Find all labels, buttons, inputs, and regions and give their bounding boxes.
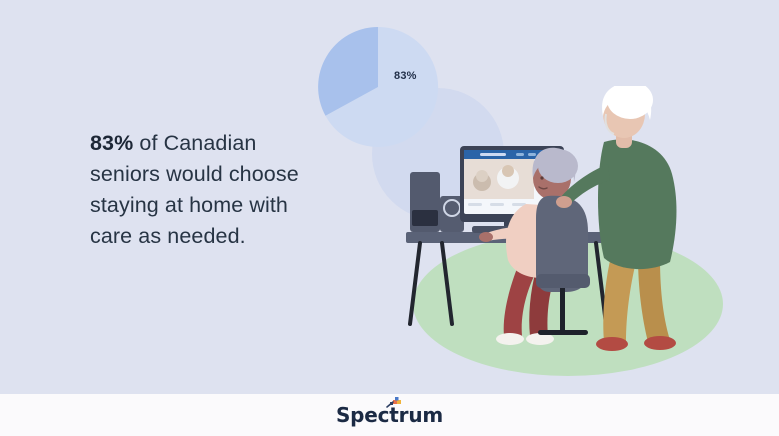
computer-tower [410,172,440,232]
screen-card-1 [468,203,482,206]
tower-panel [412,210,438,226]
spectrum-starburst-icon [384,396,406,410]
illustration-svg [398,86,738,386]
screen-photo-head-1 [476,170,488,182]
seated-eye [540,176,543,179]
mark-square-blue [395,397,399,401]
screen-photo-head-2 [502,165,514,177]
standing-sweater [598,139,676,269]
footer-bar: Spectrum [0,394,779,436]
seated-hair-top [538,149,578,183]
mark-square-yellow [397,400,401,404]
chair-base [538,330,588,335]
standing-shoe-front [644,336,676,350]
brand-logo-inner: Spectrum [336,403,443,427]
screen-nav-1 [516,153,524,156]
starburst-svg [384,396,406,410]
slide-stage: 83% of Canadian seniors would choose sta… [0,0,779,394]
seated-shoe-back [496,333,524,345]
screen-logo [480,153,506,156]
page-title: 83% of Canadian seniors would choose sta… [90,128,330,252]
infographic-slide: 83% of Canadian seniors would choose sta… [0,0,779,436]
screen-nav-2 [528,153,536,156]
illustration-seniors-at-computer [398,86,738,386]
standing-hand [556,196,572,208]
chair-seat [536,274,590,288]
standing-shoe-back [596,337,628,351]
brand-logo: Spectrum [0,394,779,436]
headline-stat: 83% [90,131,133,155]
chair-post [560,288,565,332]
screen-card-2 [490,203,504,206]
pie-slice-label-83: 83% [394,70,417,82]
seated-hand [479,232,493,242]
